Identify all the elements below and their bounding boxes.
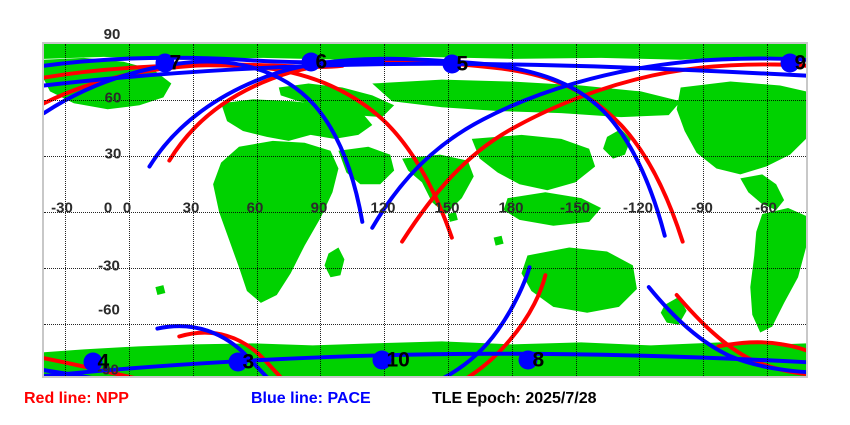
ground-track-map-screenshot: 90 60 30 0 -30 -60 -90 -30 0 30 60 90 12… xyxy=(0,0,850,425)
gridline-lat-30 xyxy=(44,156,806,157)
legend-tle-epoch: TLE Epoch: 2025/7/28 xyxy=(432,388,597,410)
marker-label: 9 xyxy=(795,52,807,73)
gridline-lat--60 xyxy=(44,324,806,325)
gridline-lat-60 xyxy=(44,100,806,101)
marker-label: 4 xyxy=(98,351,110,372)
marker-label: 7 xyxy=(170,52,182,73)
lat-label-60: 60 xyxy=(105,91,122,106)
lon-label--90: -90 xyxy=(691,201,713,216)
lat-label--60: -60 xyxy=(98,303,120,318)
marker-label: 5 xyxy=(457,53,469,74)
lon-label-120: 120 xyxy=(370,201,395,216)
marker-label: 6 xyxy=(316,51,328,72)
lon-label-60: 60 xyxy=(247,201,264,216)
lon-label--150: -150 xyxy=(560,201,590,216)
satellite-marker-5[interactable]: 5 xyxy=(443,55,462,74)
lon-label--120: -120 xyxy=(623,201,653,216)
lon-label-150: 150 xyxy=(434,201,459,216)
gridline-lat--30 xyxy=(44,268,806,269)
marker-label: 3 xyxy=(243,351,255,372)
satellite-marker-10[interactable]: 10 xyxy=(373,351,392,370)
lon-label--30: -30 xyxy=(51,201,73,216)
satellite-marker-7[interactable]: 7 xyxy=(156,54,175,73)
lat-label-0: 0 xyxy=(104,201,112,216)
marker-label: 8 xyxy=(533,349,545,370)
satellite-marker-6[interactable]: 6 xyxy=(302,53,321,72)
marker-label: 10 xyxy=(387,349,410,370)
lon-label-0: 0 xyxy=(123,201,131,216)
lat-label-90: 90 xyxy=(104,27,121,42)
lon-label-90: 90 xyxy=(311,201,328,216)
satellite-marker-8[interactable]: 8 xyxy=(519,351,538,370)
lat-label--30: -30 xyxy=(98,259,120,274)
satellite-marker-4[interactable]: 4 xyxy=(84,353,103,372)
legend-npp: Red line: NPP xyxy=(24,388,129,410)
lon-label-30: 30 xyxy=(183,201,200,216)
lon-label-180: 180 xyxy=(498,201,523,216)
satellite-marker-3[interactable]: 3 xyxy=(229,353,248,372)
lat-label-30: 30 xyxy=(105,147,122,162)
legend-pace: Blue line: PACE xyxy=(251,388,371,410)
legend-bar: Red line: NPP Blue line: PACE TLE Epoch:… xyxy=(0,388,850,425)
lon-label--60: -60 xyxy=(755,201,777,216)
satellite-marker-9[interactable]: 9 xyxy=(781,54,800,73)
